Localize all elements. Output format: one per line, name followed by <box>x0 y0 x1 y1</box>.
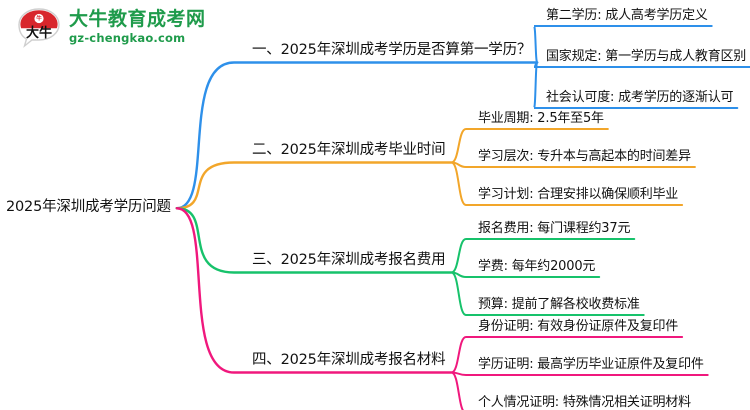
mindmap-leaf-4-1[interactable]: 身份证明: 有效身份证原件及复印件 <box>478 320 678 333</box>
mindmap-branch-2[interactable]: 二、2025年深圳成考毕业时间 <box>252 143 445 158</box>
mindmap-leaf-4-3[interactable]: 个人情况证明: 特殊情况相关证明材料 <box>478 396 691 409</box>
mindmap-branch-3[interactable]: 三、2025年深圳成考报名费用 <box>252 253 445 268</box>
mindmap-branch-4[interactable]: 四、2025年深圳成考报名材料 <box>252 353 445 368</box>
mindmap-leaf-4-2[interactable]: 学历证明: 最高学历毕业证原件及复印件 <box>478 358 704 371</box>
svg-text:大牛: 大牛 <box>26 25 52 41</box>
mindmap-leaf-2-2[interactable]: 学习层次: 专升本与高起本的时间差异 <box>478 150 691 163</box>
mindmap-leaf-1-3[interactable]: 社会认可度: 成考学历的逐渐认可 <box>546 91 733 104</box>
site-logo: 牛 大牛 大牛教育成考网 gz-chengkao.com <box>16 6 206 48</box>
mindmap-leaf-3-3[interactable]: 预算: 提前了解各校收费标准 <box>478 298 640 311</box>
mindmap-root-node[interactable]: 2025年深圳成考学历问题 <box>6 200 171 215</box>
mindmap-leaf-2-1[interactable]: 毕业周期: 2.5年至5年 <box>478 112 604 125</box>
mindmap-leaf-1-1[interactable]: 第二学历: 成人高考学历定义 <box>546 9 708 22</box>
logo-mark-icon: 牛 大牛 <box>16 6 62 48</box>
mindmap-leaf-1-2[interactable]: 国家规定: 第一学历与成人教育区别 <box>546 50 746 63</box>
mindmap-branch-1[interactable]: 一、2025年深圳成考学历是否算第一学历？ <box>252 43 531 58</box>
logo-title: 大牛教育成考网 <box>69 10 206 29</box>
mindmap-canvas: 牛 大牛 大牛教育成考网 gz-chengkao.com 2025年深圳成考学历… <box>0 0 750 410</box>
mindmap-leaf-3-2[interactable]: 学费: 每年约2000元 <box>478 260 595 273</box>
mindmap-leaf-3-1[interactable]: 报名费用: 每门课程约37元 <box>478 222 630 235</box>
svg-text:牛: 牛 <box>36 14 42 22</box>
logo-subtitle: gz-chengkao.com <box>69 33 206 45</box>
mindmap-leaf-2-3[interactable]: 学习计划: 合理安排以确保顺利毕业 <box>478 188 678 201</box>
